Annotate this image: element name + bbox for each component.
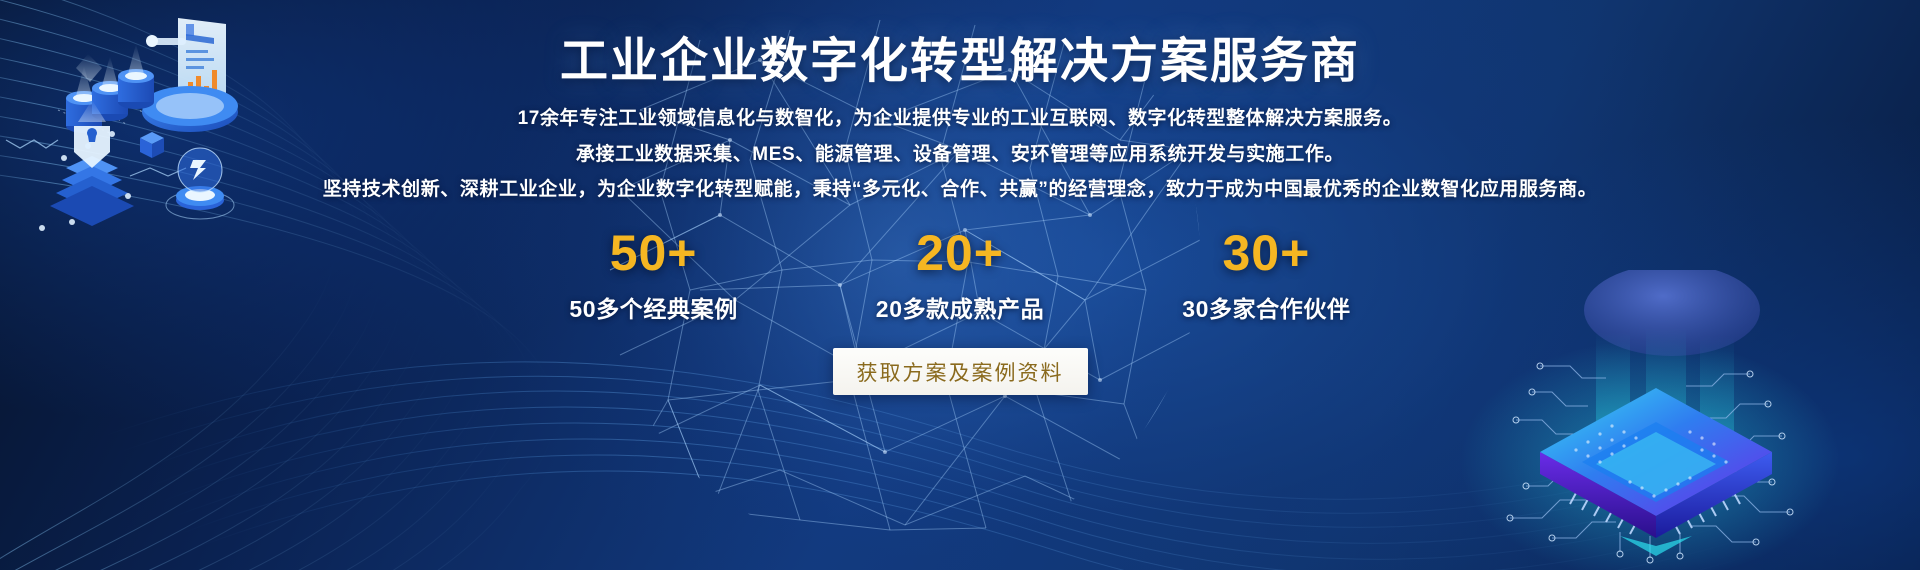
subtitle-line-2: 承接工业数据采集、MES、能源管理、设备管理、安环管理等应用系统开发与实施工作。 bbox=[576, 143, 1344, 167]
stat-number: 50+ bbox=[610, 228, 698, 278]
cta-container: 获取方案及案例资料 bbox=[833, 348, 1088, 395]
stat-item-cases: 50+ 50多个经典案例 bbox=[569, 228, 737, 324]
stat-label: 20多款成熟产品 bbox=[876, 290, 1044, 324]
banner-content: 工业企业数字化转型解决方案服务商 17余年专注工业领域信息化与数智化，为企业提供… bbox=[0, 0, 1920, 570]
page-title: 工业企业数字化转型解决方案服务商 bbox=[560, 36, 1360, 89]
stat-label: 30多家合作伙伴 bbox=[1182, 290, 1350, 324]
promo-banner: 工业企业数字化转型解决方案服务商 17余年专注工业领域信息化与数智化，为企业提供… bbox=[0, 0, 1920, 570]
subtitle-group: 17余年专注工业领域信息化与数智化，为企业提供专业的工业互联网、数字化转型整体解… bbox=[0, 107, 1920, 202]
stats-group: 50+ 50多个经典案例 20+ 20多款成熟产品 30+ 30多家合作伙伴 bbox=[569, 228, 1350, 324]
stat-number: 30+ bbox=[1222, 228, 1310, 278]
stat-label: 50多个经典案例 bbox=[569, 290, 737, 324]
stat-item-partners: 30+ 30多家合作伙伴 bbox=[1182, 228, 1350, 324]
subtitle-line-1: 17余年专注工业领域信息化与数智化，为企业提供专业的工业互联网、数字化转型整体解… bbox=[518, 107, 1403, 131]
subtitle-line-3: 坚持技术创新、深耕工业企业，为企业数字化转型赋能，秉持“多元化、合作、共赢”的经… bbox=[323, 178, 1598, 202]
get-solution-materials-button[interactable]: 获取方案及案例资料 bbox=[833, 348, 1088, 395]
stat-number: 20+ bbox=[916, 228, 1004, 278]
stat-item-products: 20+ 20多款成熟产品 bbox=[876, 228, 1044, 324]
